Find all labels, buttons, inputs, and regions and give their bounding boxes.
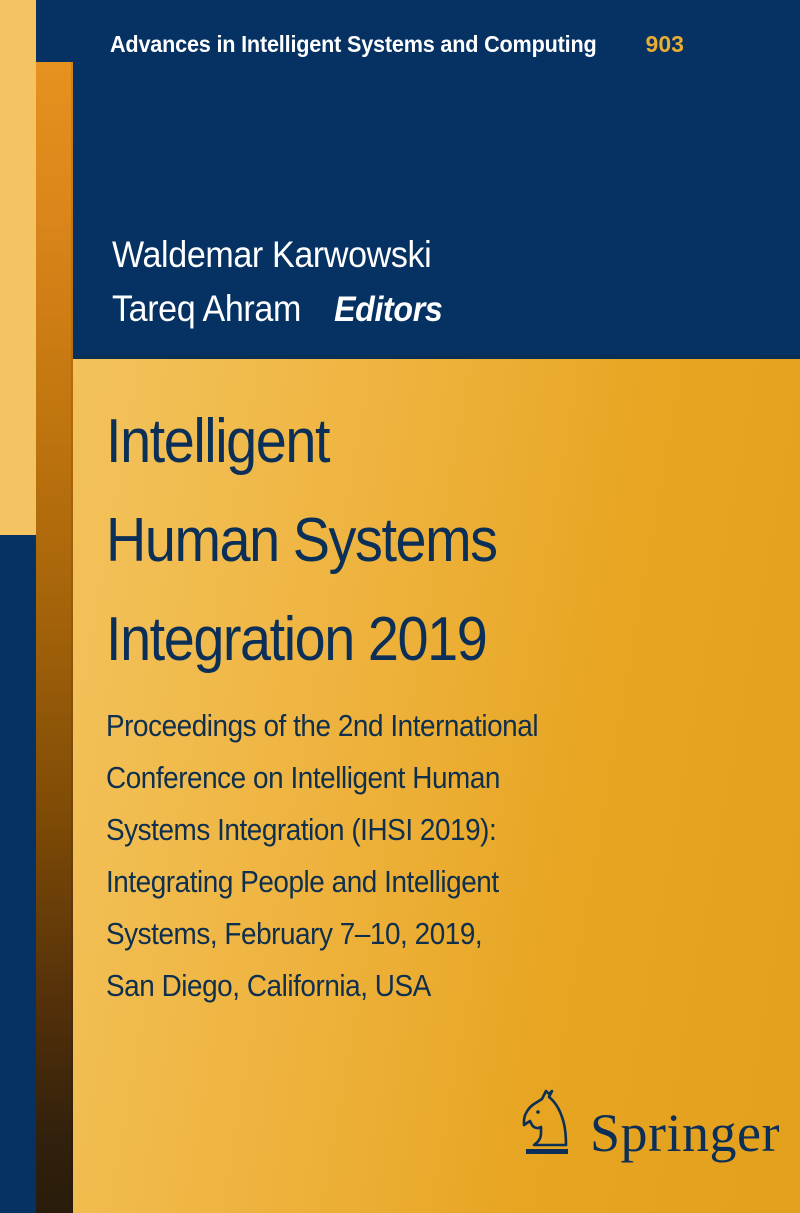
subtitle-line-4: Integrating People and Intelligent: [106, 856, 718, 908]
subtitle-block: Proceedings of the 2nd International Con…: [106, 700, 786, 1012]
series-volume-number: 903: [646, 31, 684, 58]
editor-name-1: Waldemar Karwowski: [112, 228, 682, 282]
book-cover: Advances in Intelligent Systems and Comp…: [0, 0, 800, 1213]
header-panel-bottom-rule: [73, 355, 800, 359]
left-edge-strip-lower: [0, 535, 36, 1213]
title-line-2: Human Systems: [106, 491, 700, 590]
title-line-3: Integration 2019: [106, 590, 700, 689]
series-title: Advances in Intelligent Systems and Comp…: [110, 31, 596, 58]
editor-row-2: Tareq Ahram Editors: [112, 282, 682, 336]
subtitle-line-6: San Diego, California, USA: [106, 960, 718, 1012]
subtitle-line-2: Conference on Intelligent Human: [106, 752, 718, 804]
page-title: Intelligent Human Systems Integration 20…: [106, 392, 766, 690]
publisher-logo: Springer: [516, 1085, 780, 1159]
editor-name-2: Tareq Ahram: [112, 282, 301, 336]
subtitle-line-3: Systems Integration (IHSI 2019):: [106, 804, 718, 856]
subtitle-line-5: Systems, February 7–10, 2019,: [106, 908, 718, 960]
title-line-1: Intelligent: [106, 392, 700, 491]
series-bar: Advances in Intelligent Systems and Comp…: [110, 31, 750, 58]
publisher-name: Springer: [590, 1108, 780, 1159]
accent-band: [36, 62, 73, 1213]
accent-band-edge: [71, 62, 73, 1213]
editors-role-label: Editors: [334, 285, 442, 336]
editors-block: Waldemar Karwowski Tareq Ahram Editors: [112, 228, 732, 335]
springer-knight-icon: [516, 1085, 578, 1159]
subtitle-line-1: Proceedings of the 2nd International: [106, 700, 718, 752]
left-edge-strip-upper: [0, 0, 36, 535]
